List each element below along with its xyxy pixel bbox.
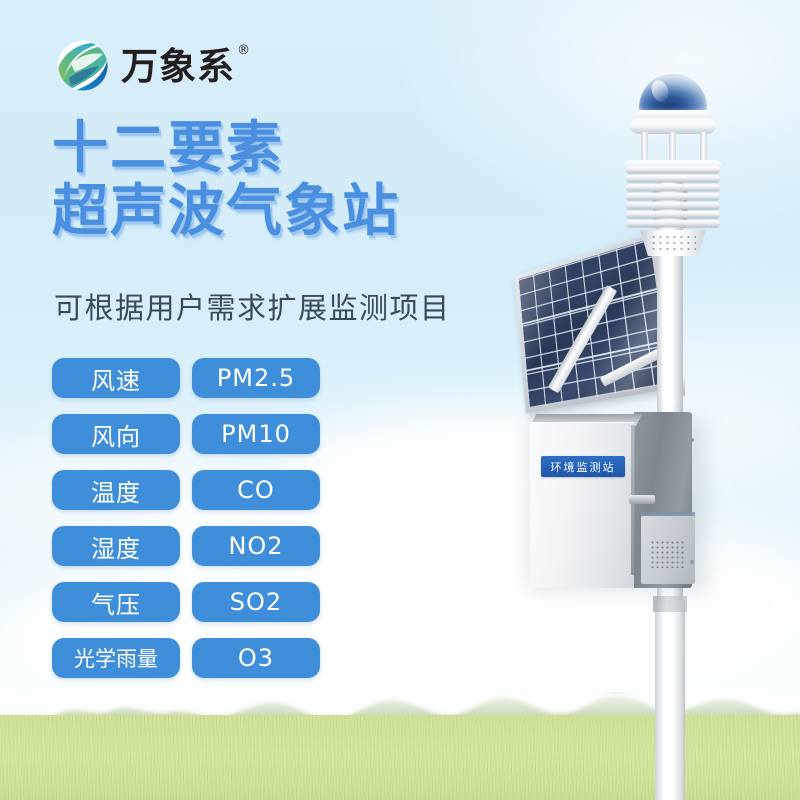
headline: 十二要素 超声波气象站 [52, 118, 482, 243]
feature-pill[interactable]: 风速 [52, 358, 180, 398]
feature-pill[interactable]: NO2 [192, 526, 320, 566]
feature-pill[interactable]: 光学雨量 [52, 638, 180, 678]
product-poster: 环境监测站 [0, 0, 800, 800]
feature-pill[interactable]: 湿度 [52, 526, 180, 566]
brand-name: 万象系 [121, 45, 235, 88]
feature-pill[interactable]: CO [192, 470, 320, 510]
globe-swirl-logo-icon [55, 38, 111, 94]
subheadline: 可根据用户需求扩展监测项目 [54, 285, 451, 327]
headline-line-1: 十二要素 [52, 118, 482, 181]
feature-pill[interactable]: O3 [192, 638, 320, 678]
brand-logo: 万象系 ® [55, 38, 251, 94]
feature-pill[interactable]: SO2 [192, 582, 320, 622]
feature-pill[interactable]: 气压 [52, 582, 180, 622]
feature-pill[interactable]: 温度 [52, 470, 180, 510]
feature-pill[interactable]: PM10 [192, 414, 320, 454]
brand-name-wrap: 万象系 ® [121, 48, 251, 85]
headline-line-2: 超声波气象站 [52, 181, 482, 244]
grass-field [0, 715, 800, 800]
feature-pill-grid: 风速 PM2.5 风向 PM10 温度 CO 湿度 NO2 气压 SO2 光学雨… [52, 358, 320, 678]
feature-pill[interactable]: PM2.5 [192, 358, 320, 398]
feature-pill[interactable]: 风向 [52, 414, 180, 454]
registered-trademark-icon: ® [237, 44, 251, 57]
